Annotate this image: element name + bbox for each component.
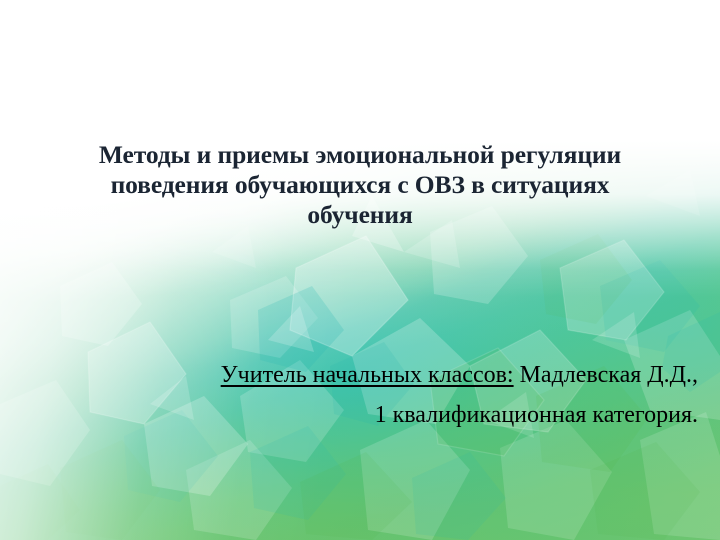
subtitle-line-category: 1 квалификационная категория.	[60, 395, 698, 435]
subtitle-line-author: Учитель начальных классов: Мадлевская Д.…	[60, 355, 698, 395]
title-slide: Методы и приемы эмоциональной регуляции …	[0, 0, 720, 540]
subtitle-role-underlined: Учитель начальных классов:	[221, 362, 514, 388]
slide-subtitle: Учитель начальных классов: Мадлевская Д.…	[60, 355, 698, 435]
subtitle-author-name: Мадлевская Д.Д.,	[514, 362, 698, 388]
slide-title: Методы и приемы эмоциональной регуляции …	[62, 140, 658, 230]
background-top-white-fade	[0, 0, 720, 540]
background-polygon-pattern	[0, 0, 720, 540]
background-left-white-fade	[0, 0, 720, 540]
background-teal-wash	[0, 0, 720, 540]
background-gradient-base	[0, 0, 720, 540]
background-green-wash	[0, 0, 720, 540]
